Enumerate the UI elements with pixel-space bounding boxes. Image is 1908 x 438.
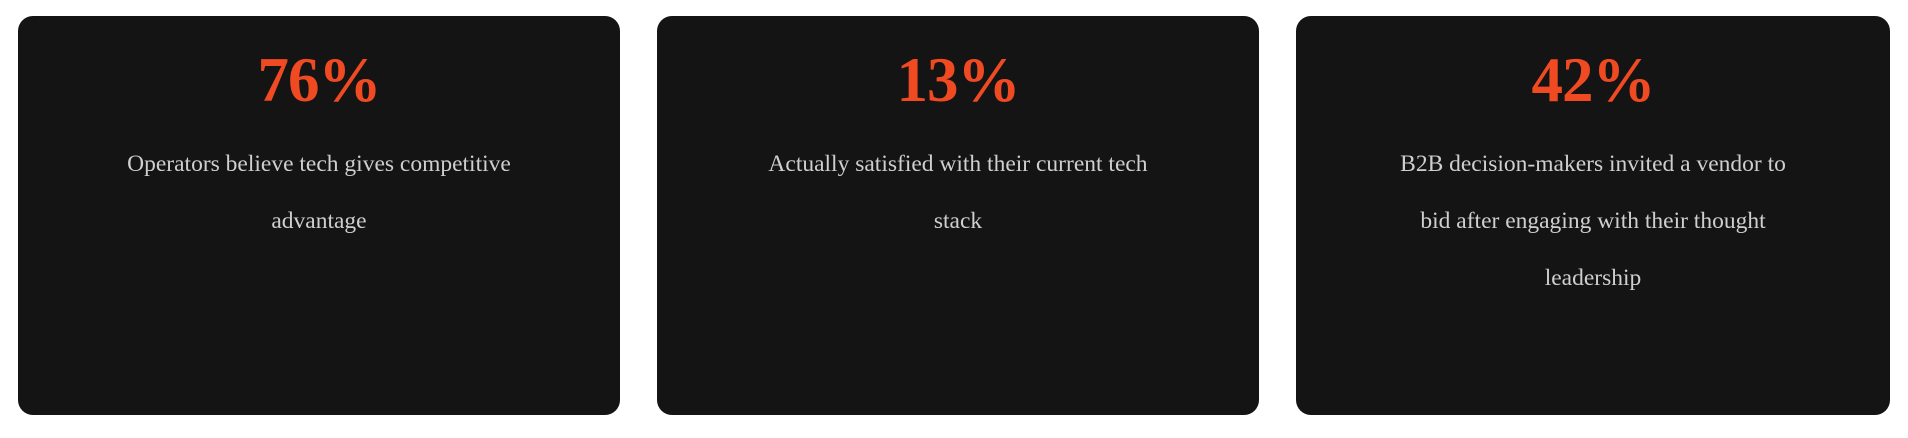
stat-card-2: 13% Actually satisfied with their curren… — [657, 16, 1259, 415]
stat-value-1: 76% — [258, 46, 381, 114]
stat-cards-row: 76% Operators believe tech gives competi… — [0, 0, 1908, 438]
stat-card-3: 42% B2B decision-makers invited a vendor… — [1296, 16, 1890, 415]
stat-value-2: 13% — [897, 46, 1020, 114]
stat-card-1: 76% Operators believe tech gives competi… — [18, 16, 620, 415]
stat-label-1: Operators believe tech gives competitive… — [124, 136, 514, 250]
stat-label-2: Actually satisfied with their current te… — [763, 136, 1153, 250]
stat-label-3: B2B decision-makers invited a vendor to … — [1393, 136, 1793, 307]
stat-value-3: 42% — [1532, 46, 1655, 114]
